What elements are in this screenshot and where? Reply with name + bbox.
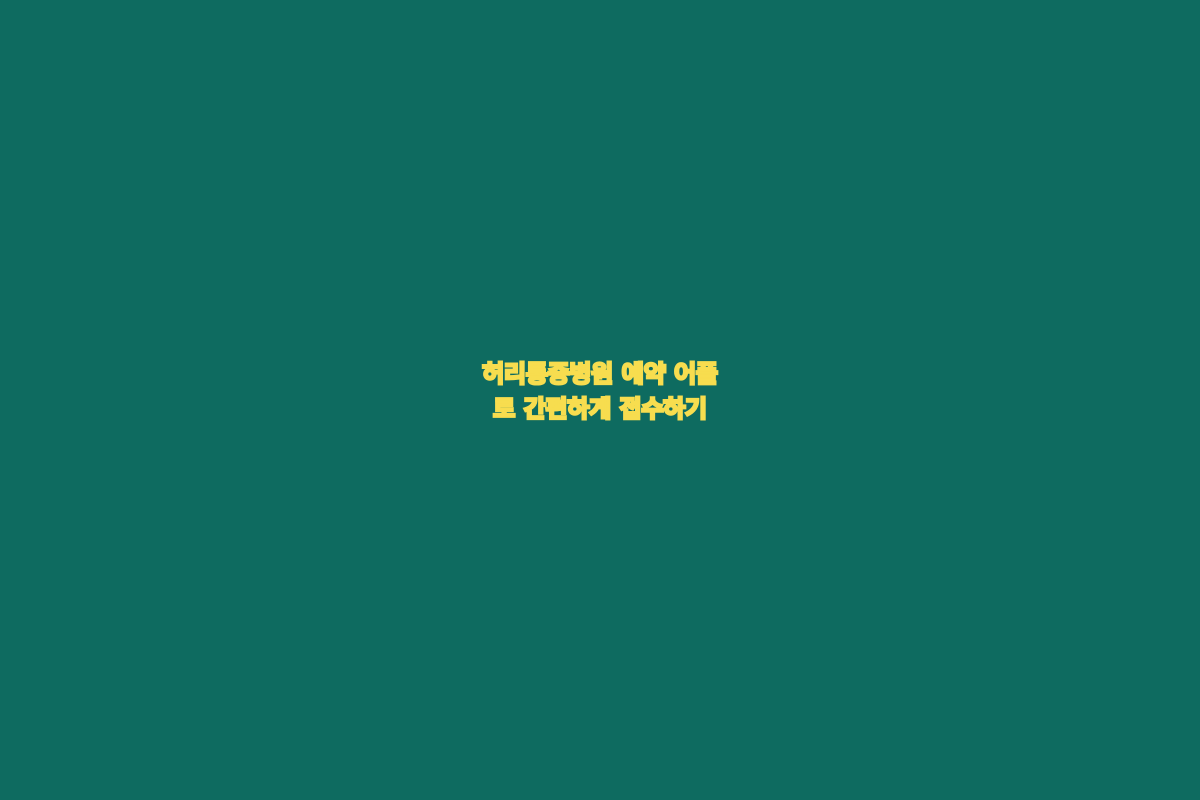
headline-line-1: 허리통증병원 예약 어플 <box>0 360 1200 391</box>
headline-line-2: 로 간편하게 접수하기 <box>0 395 1200 426</box>
banner-canvas: 허리통증병원 예약 어플 로 간편하게 접수하기 <box>0 0 1200 800</box>
headline-block: 허리통증병원 예약 어플 로 간편하게 접수하기 <box>0 0 1200 800</box>
